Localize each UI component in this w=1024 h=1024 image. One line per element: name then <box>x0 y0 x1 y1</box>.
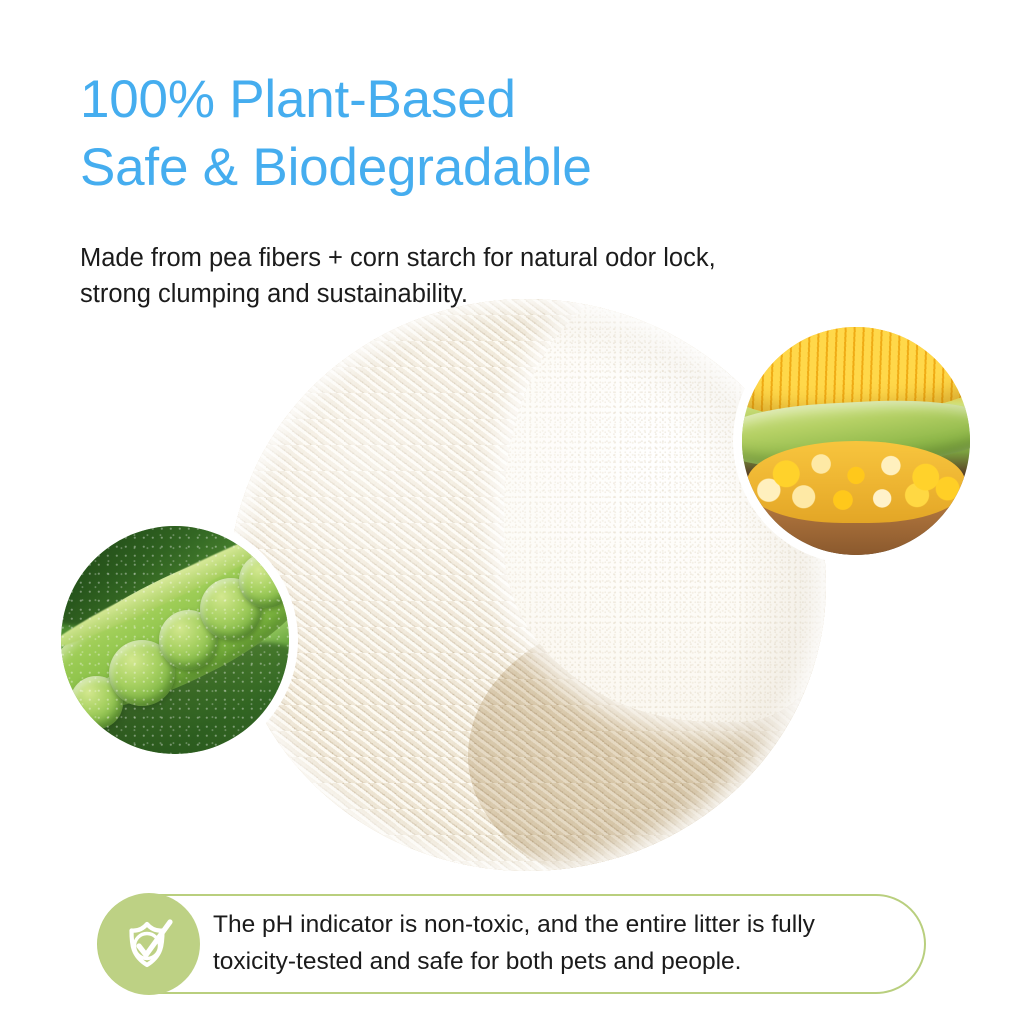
pea-pod-photo <box>61 526 289 754</box>
headline-line-1: 100% Plant-Based <box>80 66 592 134</box>
headline-line-2: Safe & Biodegradable <box>80 134 592 202</box>
subtitle-line-1: Made from pea fibers + corn starch for n… <box>80 240 716 276</box>
safety-badge <box>98 893 200 995</box>
litter-hero-circle <box>229 299 826 871</box>
corn-kernels <box>747 441 966 523</box>
corn-photo <box>742 327 970 555</box>
safety-line-2: toxicity-tested and safe for both pets a… <box>213 943 913 980</box>
pellet-shading <box>229 299 826 871</box>
page-headline: 100% Plant-Based Safe & Biodegradable <box>80 66 592 202</box>
safety-statement: The pH indicator is non-toxic, and the e… <box>213 906 913 980</box>
shield-check-icon <box>116 911 182 977</box>
pea-dew-texture <box>61 526 289 754</box>
corn-inset-circle <box>733 318 979 564</box>
safety-line-1: The pH indicator is non-toxic, and the e… <box>213 906 913 943</box>
pea-inset-circle <box>52 517 298 763</box>
